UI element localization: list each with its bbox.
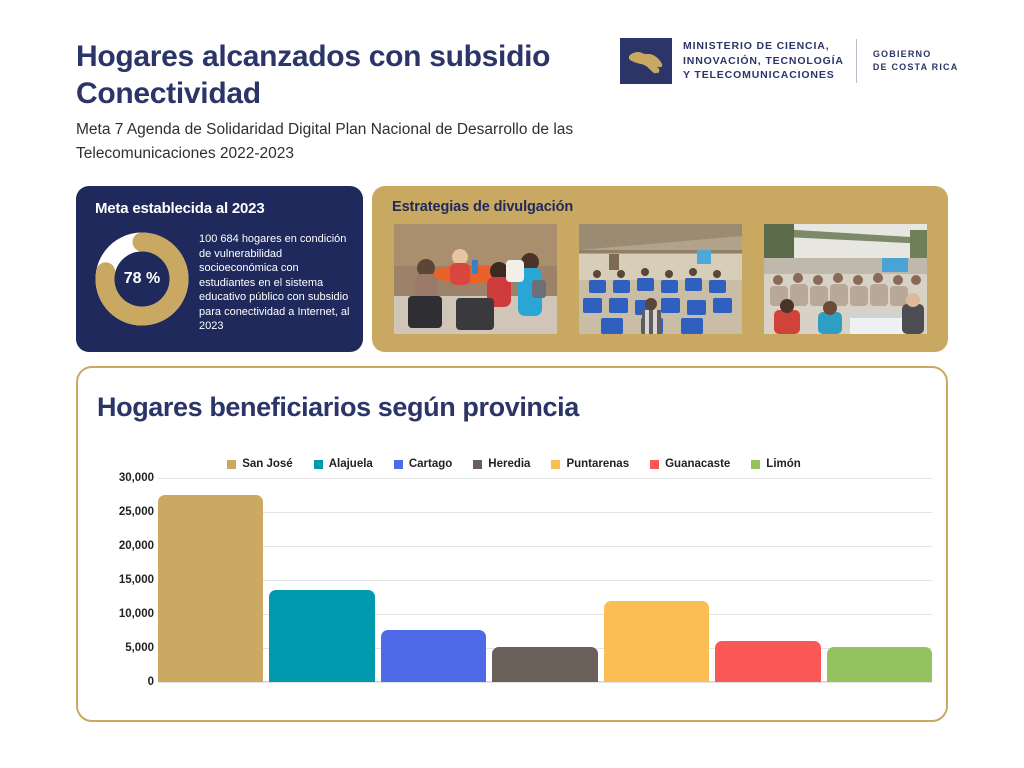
legend-item-limón[interactable]: Limón: [751, 458, 801, 470]
legend-swatch-icon: [551, 460, 560, 469]
y-axis-tick-label: 10,000: [119, 608, 154, 620]
legend-item-cartago[interactable]: Cartago: [394, 458, 452, 470]
ministry-name: MINISTERIO DE CIENCIA, INNOVACIÓN, TECNO…: [683, 39, 844, 83]
legend-swatch-icon: [314, 460, 323, 469]
legend-swatch-icon: [473, 460, 482, 469]
y-axis-tick-label: 5,000: [125, 642, 154, 654]
y-axis-tick-label: 0: [148, 676, 154, 688]
y-axis-tick-label: 15,000: [119, 574, 154, 586]
page-title: Hogares alcanzados con subsidio Conectiv…: [76, 38, 636, 112]
chart-title: Hogares beneficiarios según provincia: [97, 392, 579, 423]
goal-card-title: Meta establecida al 2023: [95, 200, 264, 217]
photo-auditorium-assembly: [579, 224, 742, 334]
legend-item-guanacaste[interactable]: Guanacaste: [650, 458, 730, 470]
legend-item-alajuela[interactable]: Alajuela: [314, 458, 373, 470]
legend-label: Limón: [766, 458, 801, 470]
legend-label: San José: [242, 458, 293, 470]
logo-divider: [856, 39, 857, 83]
legend-swatch-icon: [227, 460, 236, 469]
costa-rica-map-icon: [620, 38, 672, 84]
ministry-logo-lockup: MINISTERIO DE CIENCIA, INNOVACIÓN, TECNO…: [620, 38, 958, 84]
legend-swatch-icon: [751, 460, 760, 469]
legend-label: Alajuela: [329, 458, 373, 470]
chart-plot-area: 05,00010,00015,00020,00025,00030,000: [92, 478, 936, 706]
chart-legend: San JoséAlajuelaCartagoHerediaPuntarenas…: [78, 458, 950, 470]
chart-grid-area: [158, 478, 932, 682]
bar-alajuela[interactable]: [269, 590, 374, 682]
bar-heredia[interactable]: [492, 647, 597, 682]
header: Hogares alcanzados con subsidio Conectiv…: [0, 0, 1024, 175]
legend-swatch-icon: [394, 460, 403, 469]
bar-guanacaste[interactable]: [715, 641, 820, 682]
bar-series: [158, 478, 932, 682]
photo-outdoor-pavilion-crowd: [764, 224, 927, 334]
infographic-page: Hogares alcanzados con subsidio Conectiv…: [0, 0, 1024, 768]
y-axis-tick-label: 20,000: [119, 540, 154, 552]
gridline: [158, 682, 932, 683]
photo-row: [394, 224, 927, 334]
goal-description: 100 684 hogares en condición de vulnerab…: [199, 232, 351, 334]
legend-item-heredia[interactable]: Heredia: [473, 458, 530, 470]
legend-swatch-icon: [650, 460, 659, 469]
goal-percent-label: 78 %: [92, 229, 192, 329]
outreach-photos-card: Estrategias de divulgación: [372, 186, 948, 352]
photo-community-table-meeting: [394, 224, 557, 334]
bar-puntarenas[interactable]: [604, 601, 709, 682]
bar-san-josé[interactable]: [158, 495, 263, 682]
bar-limón[interactable]: [827, 647, 932, 682]
legend-label: Guanacaste: [665, 458, 730, 470]
y-axis-tick-label: 25,000: [119, 506, 154, 518]
legend-item-san-josé[interactable]: San José: [227, 458, 293, 470]
legend-label: Puntarenas: [566, 458, 629, 470]
bar-chart-card: Hogares beneficiarios según provincia Sa…: [76, 366, 948, 722]
bar-cartago[interactable]: [381, 630, 486, 682]
goal-donut-chart: 78 %: [92, 229, 192, 329]
outreach-photos-title: Estrategias de divulgación: [392, 199, 573, 215]
y-axis-labels: 05,00010,00015,00020,00025,00030,000: [92, 478, 154, 682]
government-name: GOBIERNO DE COSTA RICA: [873, 48, 959, 74]
y-axis-tick-label: 30,000: [119, 472, 154, 484]
goal-card: Meta establecida al 2023 78 % 100 684 ho…: [76, 186, 363, 352]
legend-label: Cartago: [409, 458, 452, 470]
page-subtitle: Meta 7 Agenda de Solidaridad Digital Pla…: [76, 118, 656, 166]
legend-item-puntarenas[interactable]: Puntarenas: [551, 458, 629, 470]
legend-label: Heredia: [488, 458, 530, 470]
